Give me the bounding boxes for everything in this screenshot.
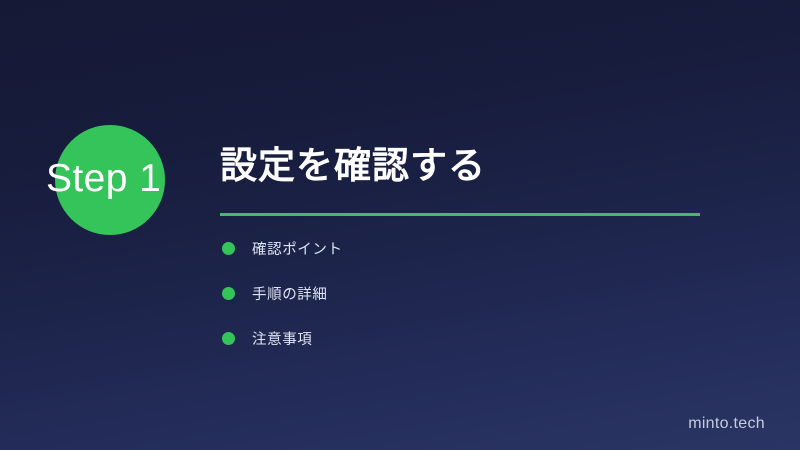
step-label: Step 1	[46, 154, 206, 204]
list-item: 確認ポイント	[222, 235, 682, 261]
bullet-list: 確認ポイント 手順の詳細 注意事項	[222, 235, 682, 370]
list-item: 注意事項	[222, 325, 682, 351]
title-divider	[220, 213, 700, 216]
bullet-dot-icon	[222, 287, 235, 300]
slide-canvas: Step 1 設定を確認する 確認ポイント 手順の詳細 注意事項 minto.t…	[0, 0, 800, 450]
page-title: 設定を確認する	[220, 144, 486, 188]
footer-brand-watermark: minto.tech	[688, 415, 765, 433]
list-item: 手順の詳細	[222, 280, 682, 306]
list-item-label: 確認ポイント	[252, 238, 343, 259]
bullet-dot-icon	[222, 242, 235, 255]
bullet-dot-icon	[222, 332, 235, 345]
list-item-label: 注意事項	[252, 328, 312, 349]
list-item-label: 手順の詳細	[252, 283, 328, 304]
